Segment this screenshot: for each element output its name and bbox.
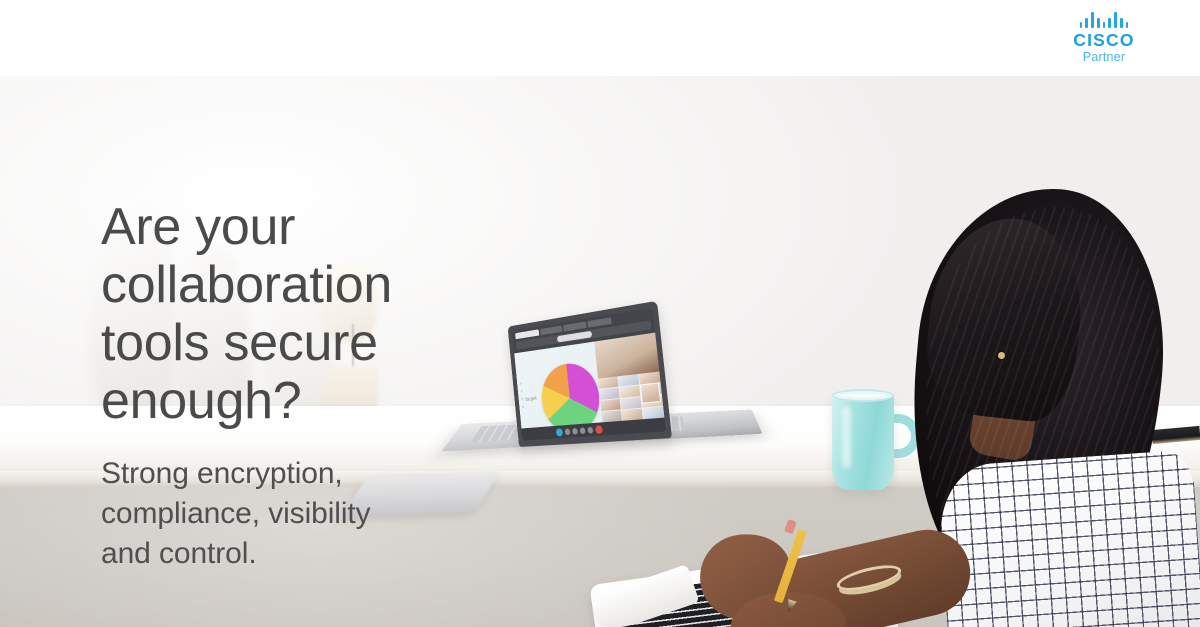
subheadline: Strong encryption, compliance, visibilit…: [101, 454, 531, 574]
participants-icon[interactable]: [580, 427, 586, 434]
browser-tab[interactable]: [563, 321, 586, 331]
participant-tile[interactable]: [599, 388, 619, 400]
ad-banner: Target: [0, 0, 1200, 627]
mic-button-icon[interactable]: [556, 428, 563, 437]
copy-block: Are your collaboration tools secure enou…: [101, 198, 531, 574]
video-participant-roster: [594, 333, 664, 423]
cisco-partner-logo: CISCO Partner: [1060, 12, 1148, 64]
chat-icon[interactable]: [587, 426, 593, 433]
logo-band: CISCO Partner: [0, 0, 1200, 76]
cisco-bar: [1091, 12, 1094, 28]
self-view-tile[interactable]: [640, 382, 661, 403]
checkered-blouse: [936, 449, 1200, 627]
mug-rim: [832, 389, 894, 402]
headline: Are your collaboration tools secure enou…: [101, 198, 531, 430]
cisco-bar: [1108, 18, 1111, 28]
cisco-bar: [1126, 22, 1129, 28]
video-button-icon[interactable]: [565, 428, 571, 435]
cisco-bar: [1085, 18, 1088, 28]
cisco-bar: [1097, 18, 1100, 28]
laptop-screen: Target: [512, 307, 666, 440]
share-screen-icon[interactable]: [572, 427, 578, 434]
cisco-partner-tagline: Partner: [1060, 50, 1148, 65]
participant-tile[interactable]: [598, 376, 618, 388]
cisco-bar: [1103, 22, 1106, 28]
earring: [998, 352, 1005, 359]
participant-tile[interactable]: [620, 397, 641, 409]
end-call-icon[interactable]: [595, 425, 603, 434]
cisco-wordmark: CISCO: [1060, 30, 1148, 50]
cisco-bar: [1120, 18, 1123, 28]
cisco-bar: [1080, 22, 1083, 28]
browser-tab[interactable]: [587, 317, 611, 327]
browser-tab[interactable]: [540, 325, 562, 335]
mug-highlight: [842, 406, 851, 468]
laptop-lid: Target: [508, 301, 672, 447]
participant-tile[interactable]: [600, 399, 620, 411]
participant-tile[interactable]: [618, 374, 639, 387]
cisco-bridge-icon: [1060, 12, 1148, 28]
cisco-bar: [1114, 12, 1117, 28]
participant-tile[interactable]: [619, 385, 640, 397]
